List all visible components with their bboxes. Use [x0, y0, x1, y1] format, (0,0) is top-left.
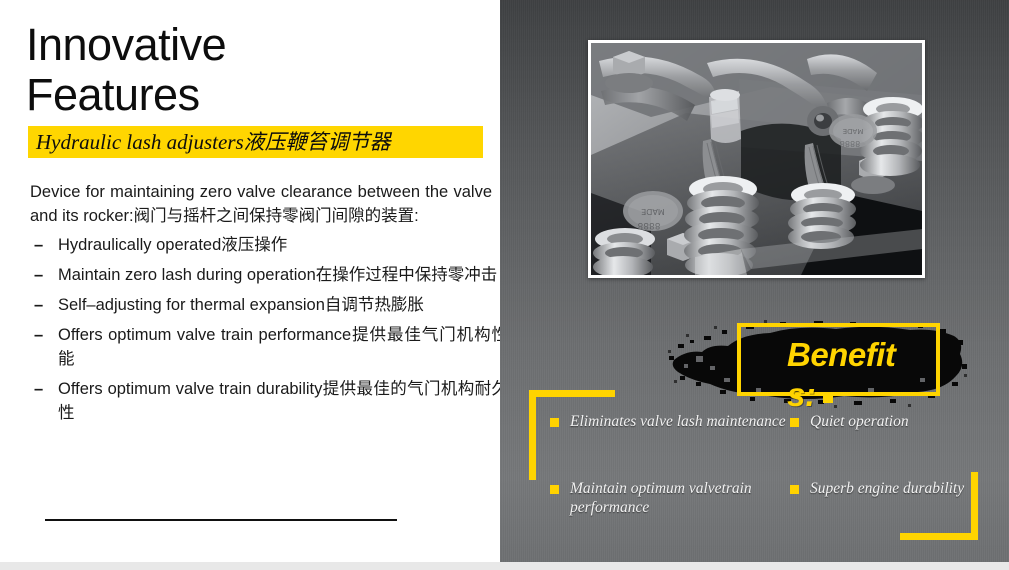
- list-item-label: Hydraulically operated液压操作: [58, 233, 508, 257]
- engine-valvetrain-render: MADE 8888 MADE 8888: [591, 43, 922, 275]
- svg-text:MADE: MADE: [641, 207, 665, 216]
- square-bullet-icon: [790, 485, 799, 494]
- dash-bullet-icon: –: [34, 323, 43, 347]
- page-title: Innovative Features: [26, 20, 476, 120]
- photo-frame: MADE 8888 MADE 8888: [588, 40, 925, 278]
- dash-bullet-icon: –: [34, 377, 43, 401]
- slide-canvas: Innovative Features Hydraulic lash adjus…: [0, 0, 1009, 570]
- svg-text:MADE: MADE: [843, 127, 864, 135]
- corner-bracket-bottom-right-arm: [900, 533, 978, 540]
- list-item: Maintain optimum valvetrain performance: [550, 479, 790, 517]
- list-item: – Offers optimum valve train durability提…: [30, 377, 508, 425]
- bottom-strip: [0, 562, 1009, 570]
- dash-bullet-icon: –: [34, 233, 43, 257]
- list-item: Quiet operation: [790, 412, 990, 431]
- list-item-label: Self–adjusting for thermal expansion自调节热…: [58, 293, 508, 317]
- list-item: – Maintain zero lash during operation在操作…: [30, 263, 508, 287]
- benefits-banner: Benefits:: [668, 320, 968, 408]
- square-bullet-icon: [790, 418, 799, 427]
- square-bullet-icon: [550, 485, 559, 494]
- benefit-label: Quiet operation: [810, 413, 909, 430]
- right-visual-panel: MADE 8888 MADE 8888: [500, 0, 1009, 562]
- accent-square-icon: [823, 394, 833, 403]
- dash-bullet-icon: –: [34, 263, 43, 287]
- benefit-label: Superb engine durability: [810, 480, 964, 497]
- list-item-label: Maintain zero lash during operation在操作过程…: [58, 263, 508, 287]
- left-content-panel: Innovative Features Hydraulic lash adjus…: [0, 0, 500, 562]
- svg-text:8888: 8888: [840, 139, 860, 148]
- horizontal-divider: [45, 519, 397, 521]
- coil-spring-4: [593, 228, 655, 275]
- body-copy: Device for maintaining zero valve cleara…: [30, 180, 508, 431]
- valvetrain-illustration-icon: MADE 8888 MADE 8888: [591, 43, 922, 275]
- feature-bullet-list: – Hydraulically operated液压操作 – Maintain …: [30, 233, 508, 425]
- svg-text:8888: 8888: [637, 220, 660, 230]
- corner-bracket-top-left: [529, 390, 551, 480]
- benefit-label: Eliminates valve lash maintenance: [570, 413, 786, 430]
- benefits-list: Eliminates valve lash maintenance Quiet …: [550, 412, 1000, 517]
- corner-bracket-top-left-arm: [529, 390, 615, 397]
- title-line-1: Innovative: [26, 20, 476, 70]
- subtitle-highlight-bar: Hydraulic lash adjusters液压鞭笞调节器: [28, 126, 483, 158]
- list-item-label: Offers optimum valve train performance提供…: [58, 323, 508, 371]
- subtitle-text: Hydraulic lash adjusters液压鞭笞调节器: [36, 129, 391, 155]
- list-item: – Offers optimum valve train performance…: [30, 323, 508, 371]
- square-bullet-icon: [550, 418, 559, 427]
- lead-paragraph: Device for maintaining zero valve cleara…: [30, 180, 492, 228]
- list-item-label: Offers optimum valve train durability提供最…: [58, 377, 508, 425]
- list-item: Eliminates valve lash maintenance: [550, 412, 790, 431]
- list-item: – Hydraulically operated液压操作: [30, 233, 508, 257]
- benefit-label: Maintain optimum valvetrain performance: [570, 480, 752, 516]
- list-item: – Self–adjusting for thermal expansion自调…: [30, 293, 508, 317]
- benefits-label: Benefits:: [737, 323, 897, 415]
- list-item: Superb engine durability: [790, 479, 990, 517]
- dash-bullet-icon: –: [34, 293, 43, 317]
- title-line-2: Features: [26, 70, 476, 120]
